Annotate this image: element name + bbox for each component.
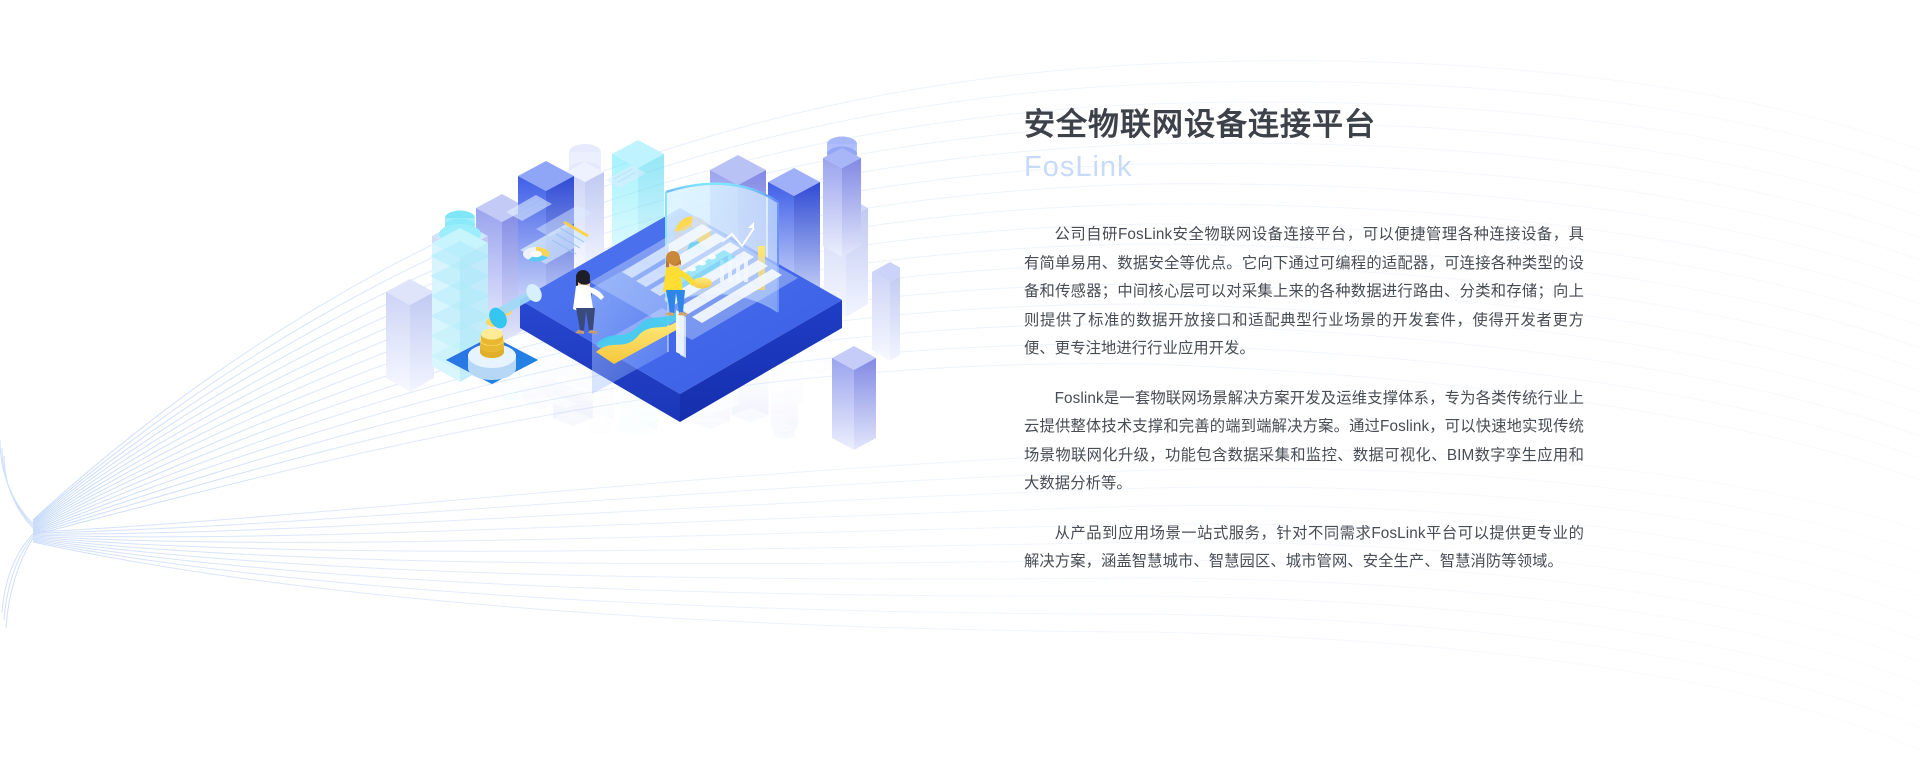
- hero-text-column: 安全物联网设备连接平台 FosLink 公司自研FosLink安全物联网设备连接…: [1024, 106, 1584, 577]
- paragraph-2: Foslink是一套物联网场景解决方案开发及运维支撑体系，专为各类传统行业上云提…: [1024, 385, 1584, 499]
- isometric-iot-platform-illustration: [380, 60, 900, 480]
- hero-section: 安全物联网设备连接平台 FosLink 公司自研FosLink安全物联网设备连接…: [0, 0, 1920, 760]
- body-copy: 公司自研FosLink安全物联网设备连接平台，可以便捷管理各种连接设备，具有简单…: [1024, 221, 1584, 577]
- background-wave-decoration: [0, 0, 1920, 760]
- paragraph-1: 公司自研FosLink安全物联网设备连接平台，可以便捷管理各种连接设备，具有简单…: [1024, 221, 1584, 364]
- page-subtitle: FosLink: [1024, 149, 1584, 185]
- dome-tower-right: [823, 137, 861, 258]
- page-title: 安全物联网设备连接平台: [1024, 106, 1584, 145]
- paragraph-3: 从产品到应用场景一站式服务，针对不同需求FosLink平台可以提供更专业的解决方…: [1024, 520, 1584, 577]
